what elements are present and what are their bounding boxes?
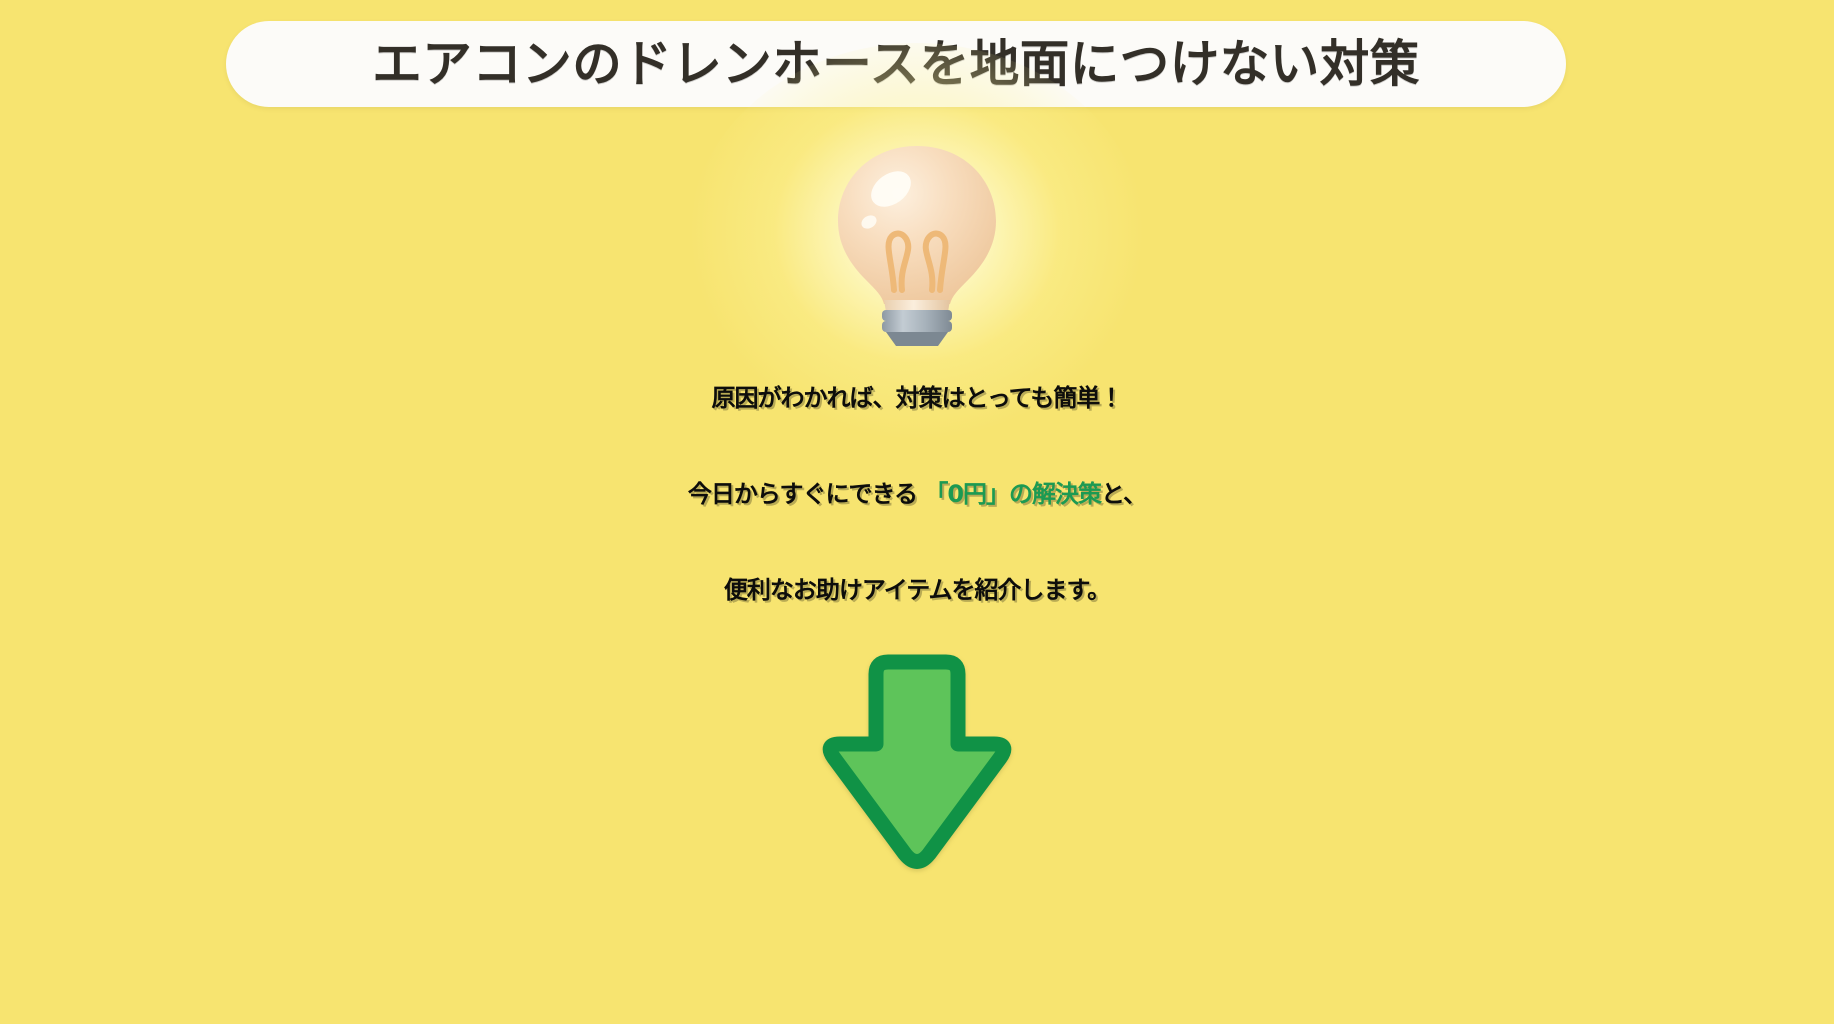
headline-line-1-text: 原因がわかれば、対策はとっても簡単！ <box>712 384 1123 412</box>
headline-line-1: 原因がわかれば、対策はとっても簡単！ <box>0 350 1834 446</box>
title-badge: エアコンのドレンホースを地面につけない対策 <box>226 21 1566 107</box>
light-bulb-illustration <box>0 138 1834 348</box>
headline-line-3: 便利なお助けアイテムを紹介します。 <box>0 542 1834 638</box>
bulb-filament <box>889 234 946 290</box>
headline-accent-zero-yen: 「0円」の解決策 <box>924 480 1101 508</box>
down-arrow-icon <box>818 648 1016 874</box>
headline-block: 原因がわかれば、対策はとっても簡単！ 今日からすぐにできる 「0円」の解決策と、… <box>0 350 1834 638</box>
down-arrow-illustration <box>0 648 1834 888</box>
light-bulb-icon <box>822 140 1012 346</box>
bulb-screw-base <box>882 310 952 346</box>
bulb-highlight-large <box>864 164 917 214</box>
headline-line-2-prefix: 今日からすぐにできる <box>688 480 924 508</box>
headline-line-2: 今日からすぐにできる 「0円」の解決策と、 <box>0 446 1834 542</box>
title-text: エアコンのドレンホースを地面につけない対策 <box>372 39 1419 89</box>
bulb-glass <box>838 146 996 304</box>
arrow-shape <box>830 662 1004 862</box>
headline-line-2-suffix: と、 <box>1101 480 1146 508</box>
slide-canvas: エアコンのドレンホースを地面につけない対策 <box>0 0 1834 1024</box>
bulb-neck <box>884 300 950 312</box>
headline-line-3-text: 便利なお助けアイテムを紹介します。 <box>724 576 1110 604</box>
bulb-highlight-small <box>859 213 879 231</box>
